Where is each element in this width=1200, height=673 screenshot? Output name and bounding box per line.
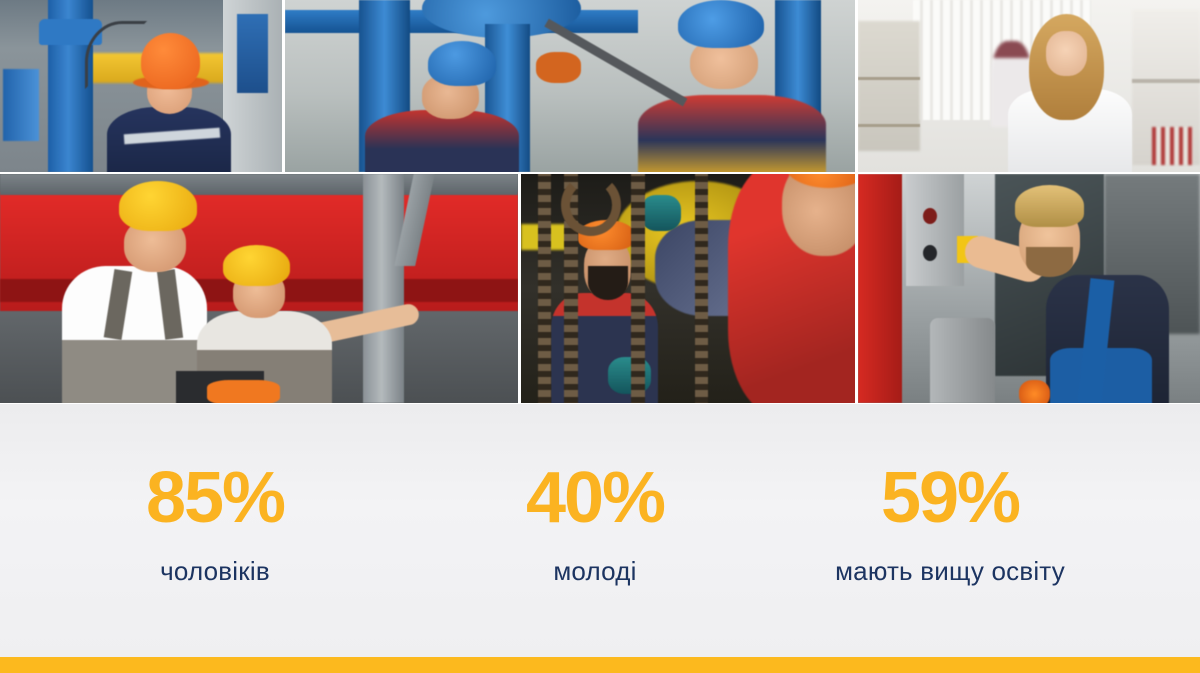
stat-block-men: 85% чоловіків (0, 462, 430, 587)
photo-blond-man-control-panel (858, 174, 1200, 403)
stat-label-men: чоловіків (0, 556, 430, 587)
stat-value-higher-education: 59% (760, 462, 1140, 534)
stat-block-youth: 40% молоді (430, 462, 760, 587)
statistics-row: 85% чоловіків 40% молоді 59% мають вищу … (0, 462, 1140, 587)
photo-worker-orange-helmet (0, 0, 282, 172)
photo-two-workers-blue-helmets (285, 0, 855, 172)
workforce-photo-collage (0, 0, 1200, 404)
bottom-yellow-bar (0, 657, 1200, 673)
stat-block-higher-education: 59% мають вищу освіту (760, 462, 1140, 587)
photo-bearded-worker-chains (521, 174, 855, 403)
photo-pair-yellow-helmets (0, 174, 518, 403)
stat-value-youth: 40% (430, 462, 760, 534)
stat-value-men: 85% (0, 462, 430, 534)
statistics-panel: 85% чоловіків 40% молоді 59% мають вищу … (0, 404, 1200, 657)
collage-row-bottom (0, 174, 1200, 403)
photo-lab-woman-white-coat (858, 0, 1200, 172)
collage-row-top (0, 0, 1200, 172)
stat-label-higher-education: мають вищу освіту (760, 556, 1140, 587)
stat-label-youth: молоді (430, 556, 760, 587)
